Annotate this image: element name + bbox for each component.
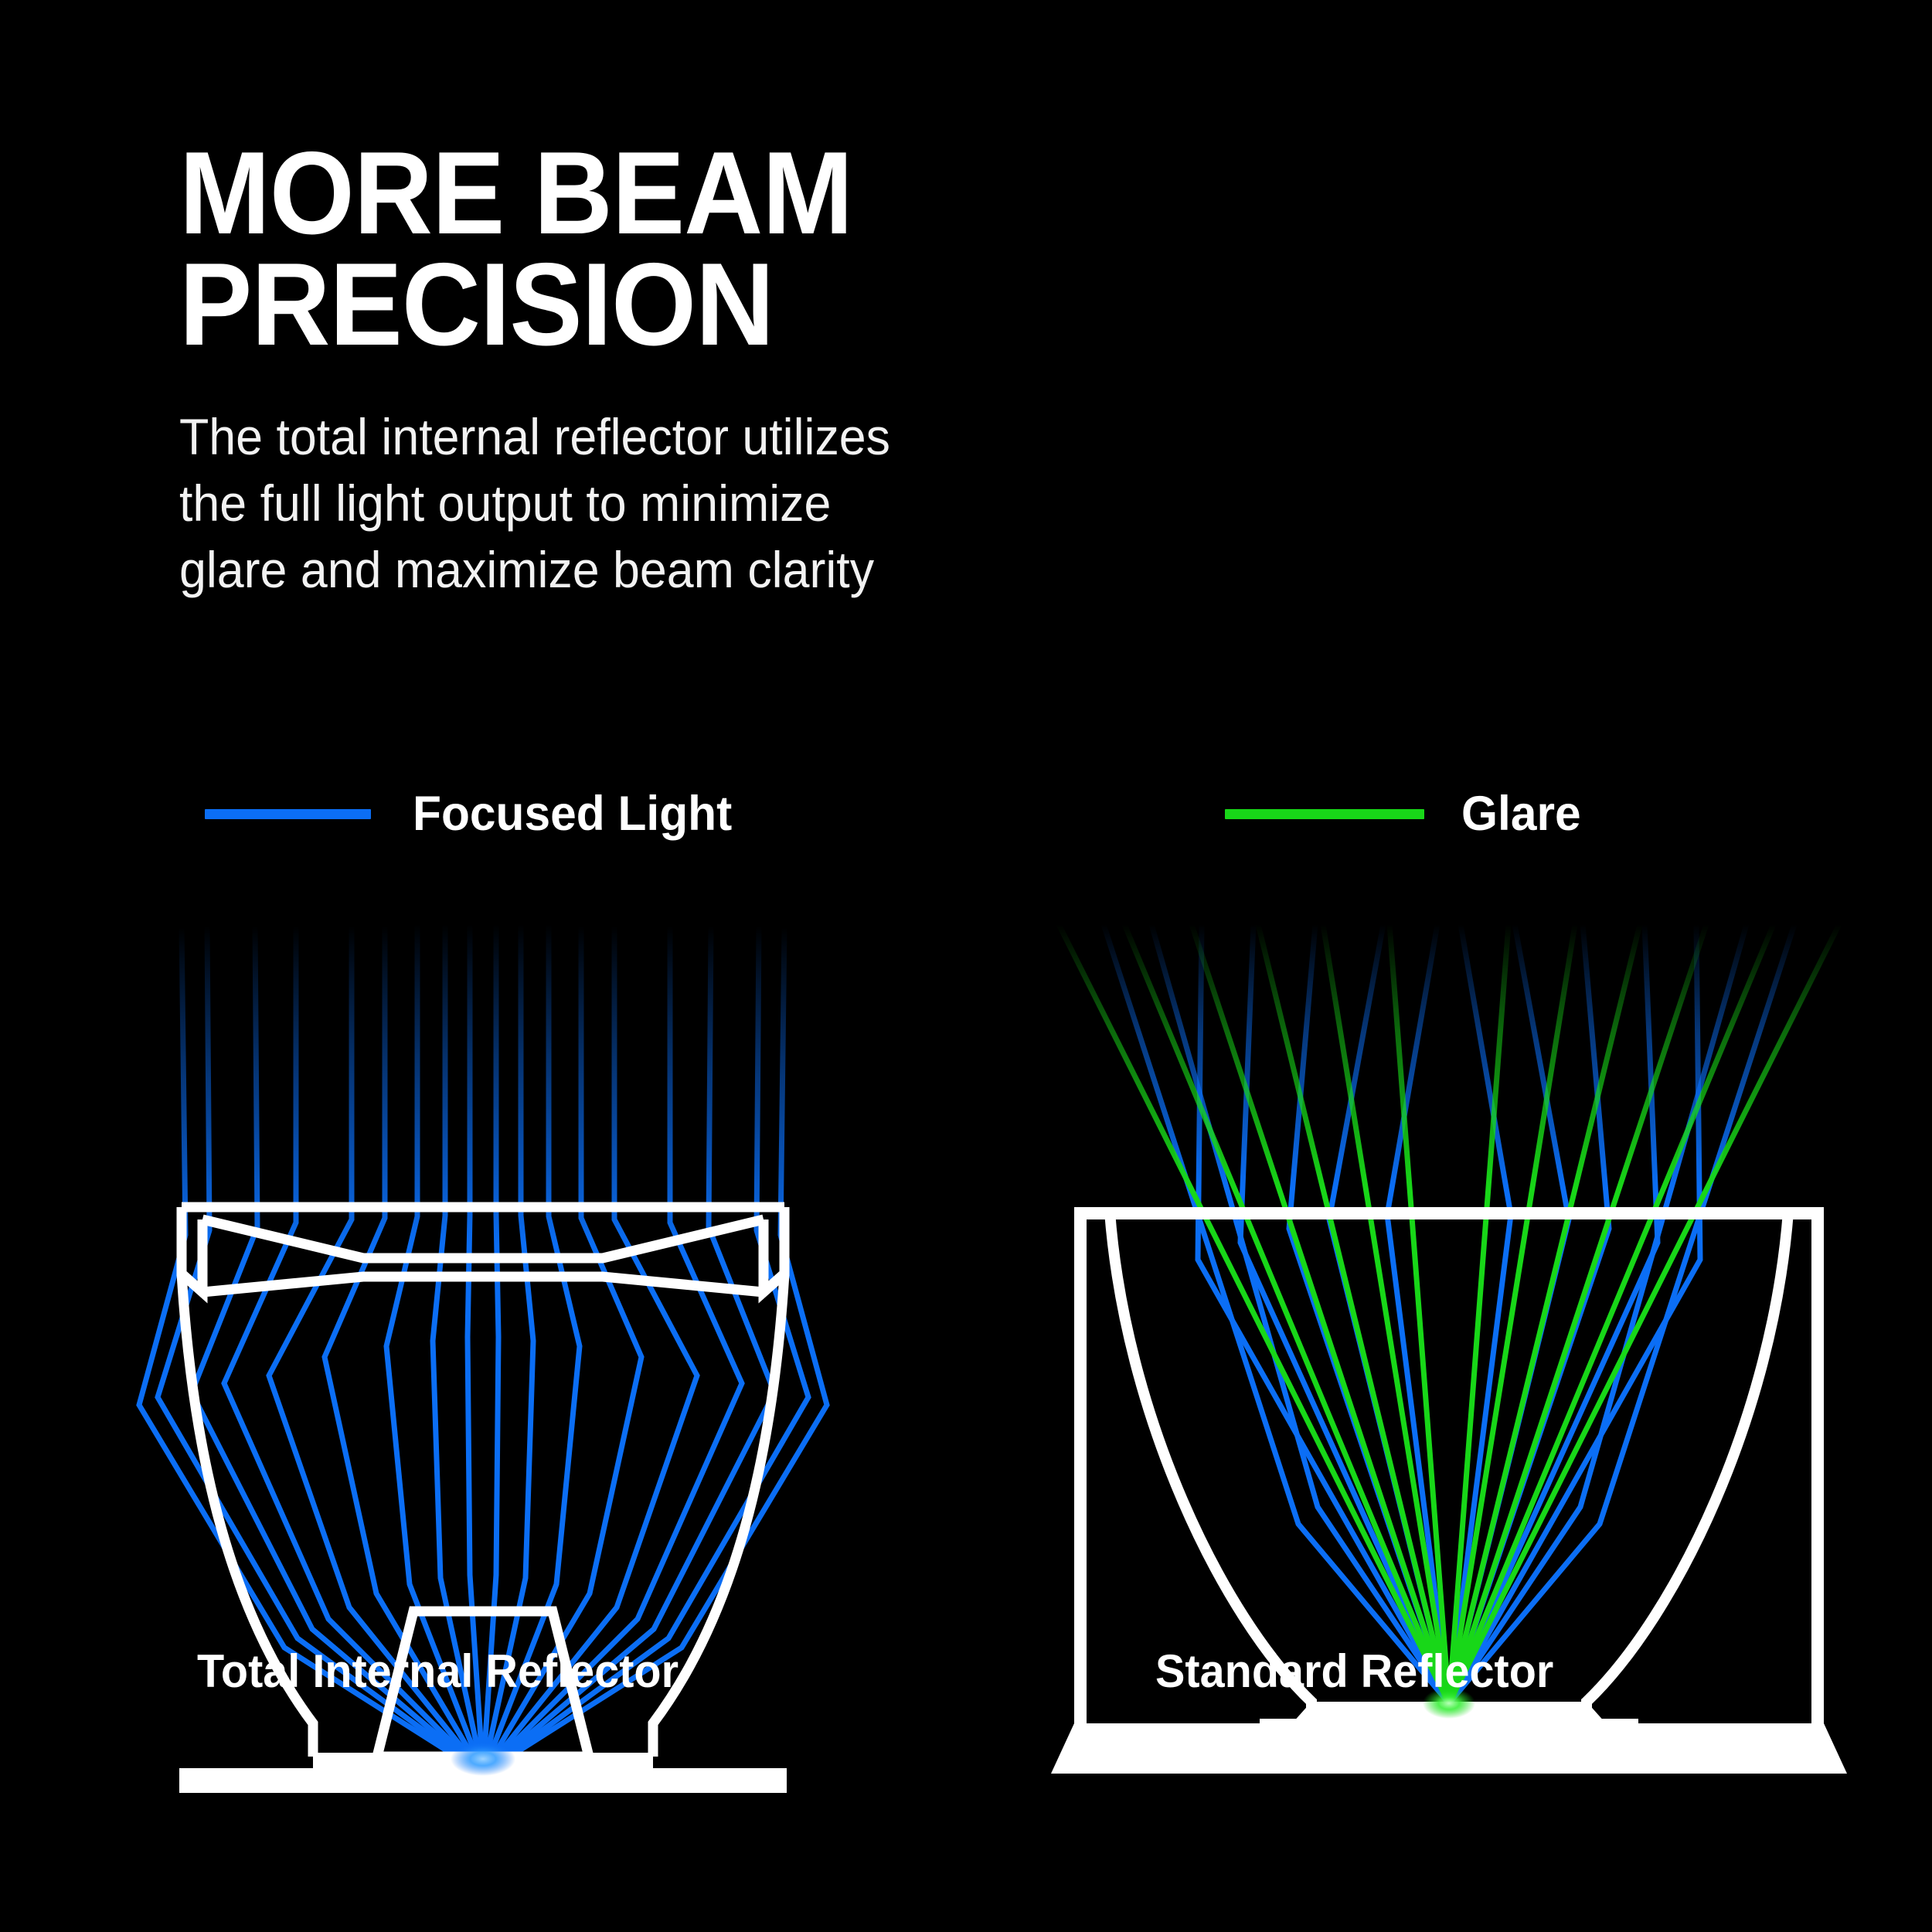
legend-label-glare: Glare — [1461, 786, 1581, 842]
headline-block: MORE BEAM PRECISION — [179, 138, 1261, 361]
line-swatch-icon-focused-light — [205, 809, 371, 819]
tir-light-source — [451, 1742, 515, 1776]
standard-glare-ray-group — [1059, 924, 1839, 1703]
legend-label-focused-light: Focused Light — [413, 786, 732, 842]
legend: Focused Light Glare — [0, 779, 1932, 849]
legend-item-focused-light: Focused Light — [205, 779, 745, 849]
caption-standard-reflector: Standard Reflector — [1155, 1645, 1553, 1698]
line-swatch-icon-glare — [1225, 809, 1424, 819]
legend-item-glare: Glare — [1225, 779, 1586, 849]
caption-total-internal-reflector: Total Internal Reflector — [197, 1645, 679, 1698]
page-subtitle: The total internal reflector utilizes th… — [179, 404, 1075, 603]
infographic-canvas: MORE BEAM PRECISION The total internal r… — [0, 0, 1932, 1932]
page-title: MORE BEAM PRECISION — [179, 138, 1185, 361]
